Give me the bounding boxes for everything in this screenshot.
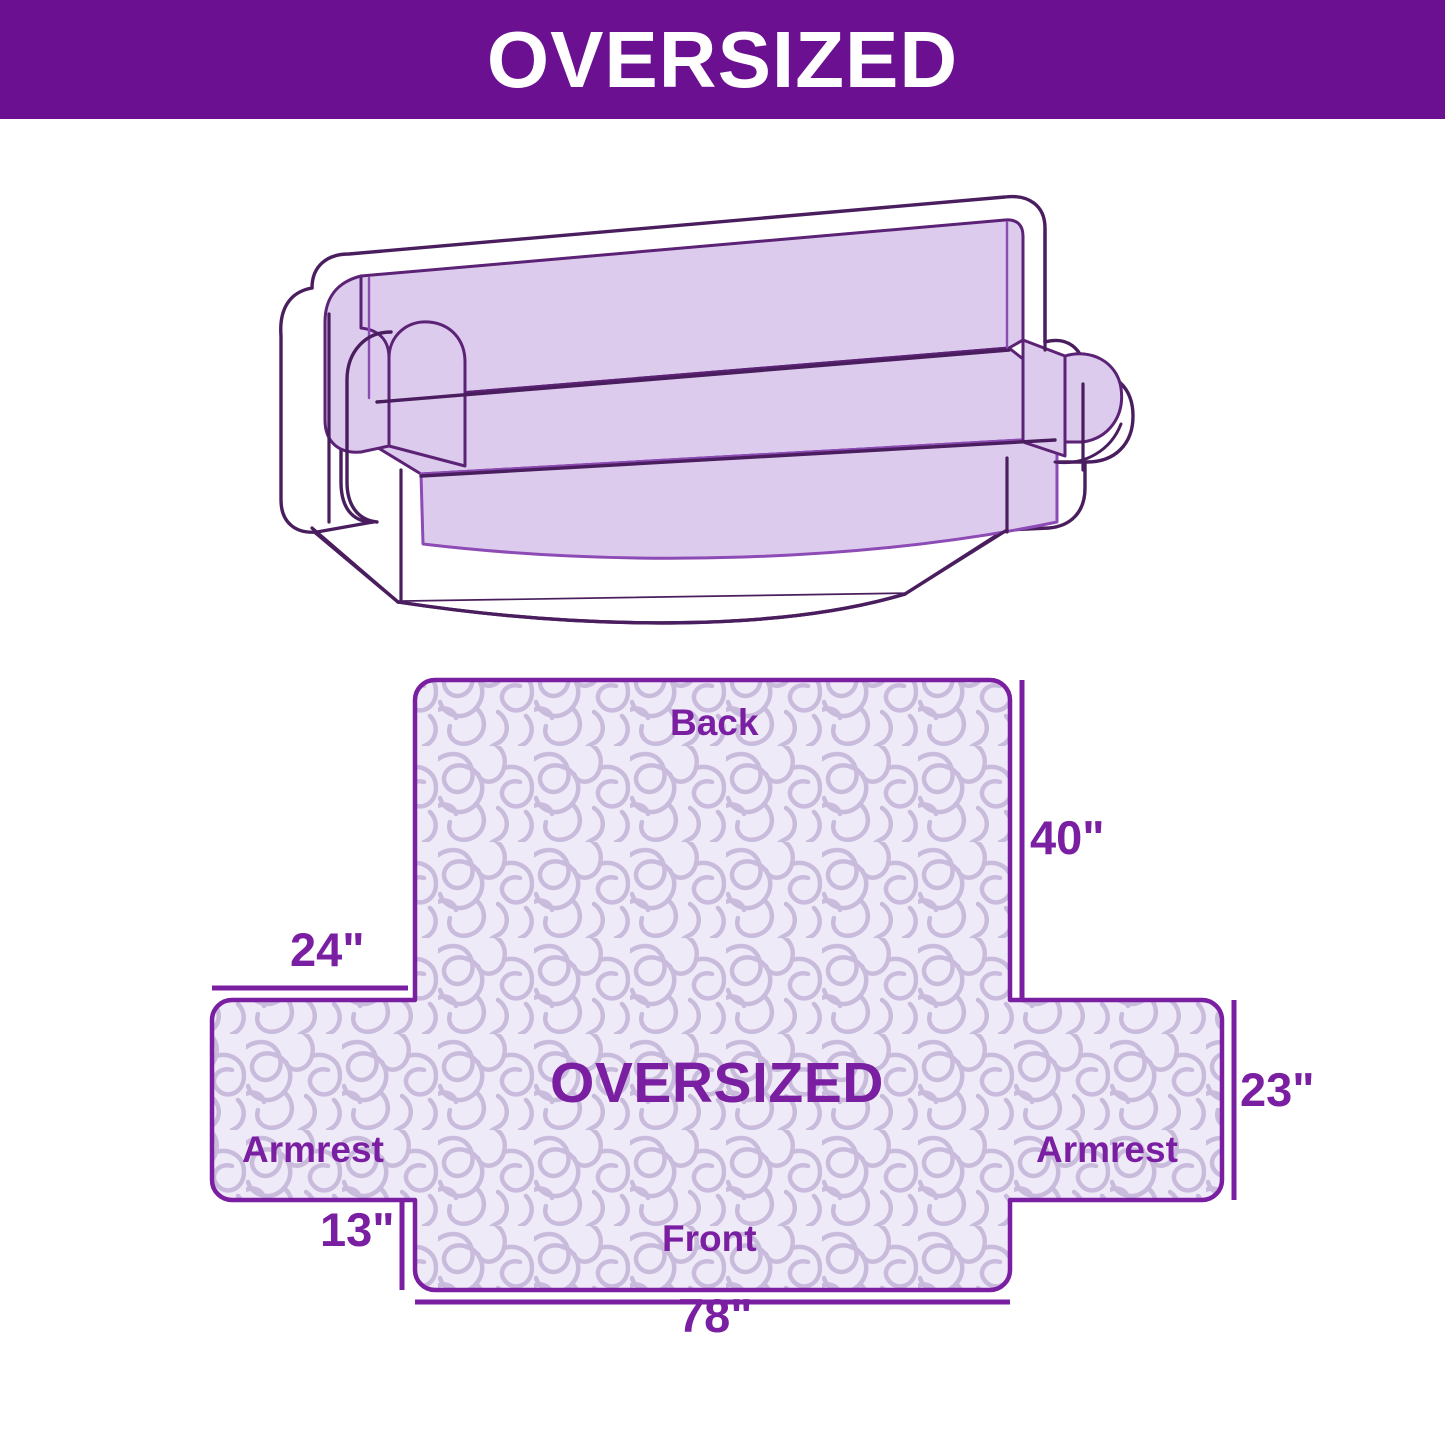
region-label-back: Back <box>670 702 758 744</box>
dimension-label-back-height: 40" <box>1030 810 1105 865</box>
dimension-label-back-offset: 24" <box>290 922 365 977</box>
region-label-front: Front <box>662 1218 757 1260</box>
cover-shape <box>212 680 1222 1290</box>
header-banner: OVERSIZED <box>0 0 1445 119</box>
sofa-illustration <box>265 170 1195 640</box>
dimension-label-front-drop: 13" <box>320 1202 395 1257</box>
cover-dimension-diagram: 40" 24" 23" 13" 78" Back Front Armrest A… <box>150 650 1330 1390</box>
cover-outline <box>212 680 1222 1290</box>
cover-center-label: OVERSIZED <box>550 1050 884 1116</box>
cover-diagram-svg <box>150 650 1330 1390</box>
dimension-label-total-width: 78" <box>678 1288 753 1343</box>
region-label-armrest-left: Armrest <box>242 1129 384 1171</box>
region-label-armrest-right: Armrest <box>1036 1129 1178 1171</box>
page-title: OVERSIZED <box>487 20 958 100</box>
sofa-line-drawing-svg <box>265 170 1195 640</box>
dimension-label-armrest-depth: 23" <box>1240 1062 1315 1117</box>
